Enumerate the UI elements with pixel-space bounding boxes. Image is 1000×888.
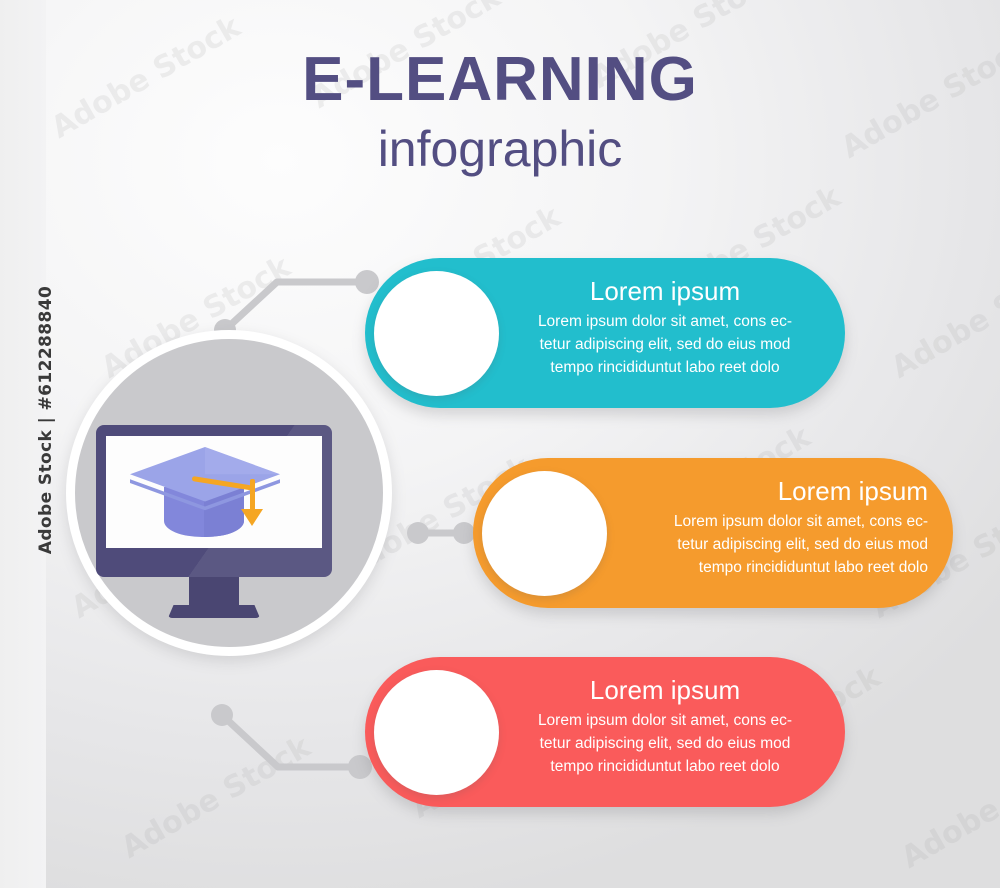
connector-3: [200, 695, 390, 805]
watermark-tile: Adobe Stock: [885, 249, 1000, 385]
card-2-heading: Lorem ipsum: [618, 477, 928, 506]
infographic-canvas: Adobe Stock Adobe Stock Adobe Stock Adob…: [0, 0, 1000, 888]
card-2-text: Lorem ipsum Lorem ipsum dolor sit amet, …: [618, 477, 928, 579]
monitor-base: [168, 605, 260, 618]
title-main: E-LEARNING: [0, 48, 1000, 112]
card-1-text: Lorem ipsum Lorem ipsum dolor sit amet, …: [510, 277, 820, 379]
card-3-body: Lorem ipsum dolor sit amet, cons ec- tet…: [510, 709, 820, 779]
monitor-neck: [189, 577, 239, 608]
card-3-text: Lorem ipsum Lorem ipsum dolor sit amet, …: [510, 676, 820, 778]
tassel-knot: [241, 509, 263, 526]
watermark-tile: Adobe Stock: [895, 739, 1000, 875]
card-3-heading: Lorem ipsum: [510, 676, 820, 705]
tassel-cord: [250, 479, 255, 512]
watermark-tile: Adobe Stock: [115, 729, 316, 865]
card-3-circle: [374, 670, 499, 795]
graduation-cap-icon: [130, 447, 280, 545]
computer-monitor-icon: [96, 425, 332, 625]
card-1-body: Lorem ipsum dolor sit amet, cons ec- tet…: [510, 310, 820, 380]
page-title: E-LEARNING infographic: [0, 48, 1000, 181]
title-subtitle: infographic: [0, 118, 1000, 181]
card-2-circle: [482, 471, 607, 596]
card-1-circle: [374, 271, 499, 396]
card-2-body: Lorem ipsum dolor sit amet, cons ec- tet…: [618, 510, 928, 580]
card-1-heading: Lorem ipsum: [510, 277, 820, 306]
